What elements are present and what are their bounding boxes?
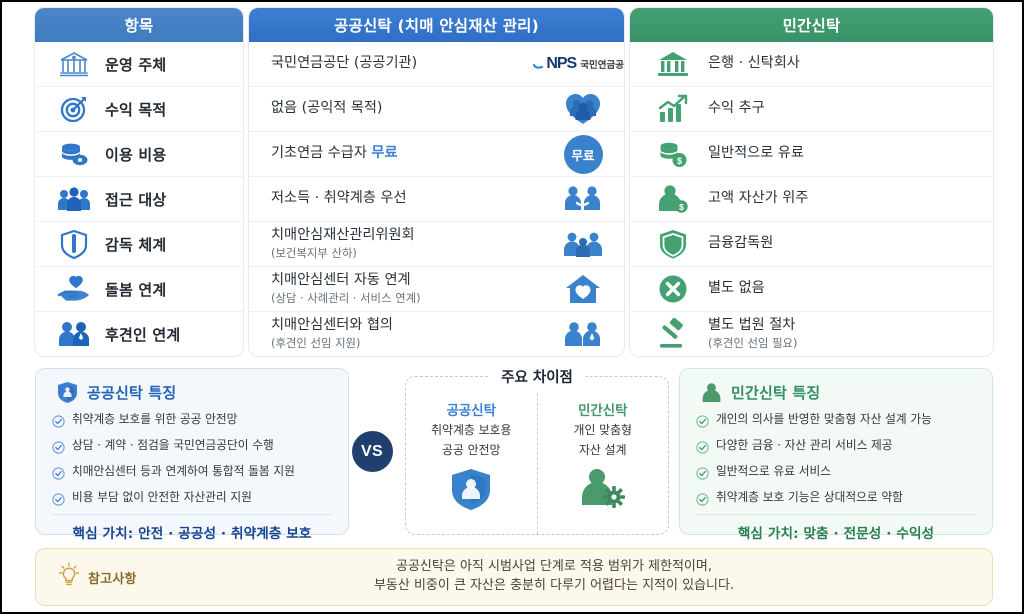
svg-text:$: $ [679, 202, 684, 212]
nps-wordmark: NPS [546, 55, 576, 73]
public-cell-text: 국민연금공단 (공공기관) [271, 55, 546, 73]
two-people-icon [57, 317, 91, 351]
item-label: 감독 체계 [105, 234, 166, 255]
column-header-private: 민간신탁 [630, 8, 993, 42]
note-line-2: 부동산 비중이 큰 자산은 충분히 다루기 어렵다는 지적이 있습니다. [288, 577, 820, 596]
table-row: 별도 법원 절차 (후견인 선임 필요) [630, 312, 993, 356]
summary-cards: 공공신탁 특징 취약계층 보호를 위한 공공 안전망 상담 · 계약 · 점검을… [35, 368, 993, 535]
card-title-private: 민간신탁 특징 [696, 381, 976, 403]
table-row: 기초연금 수급자 무료 무료 [249, 132, 624, 177]
heart-people-icon [552, 89, 614, 129]
table-row: 감독 체계 [35, 222, 243, 267]
nps-name-ko: 국민연금공단 [580, 57, 624, 71]
list-item: 취약계층 보호를 위한 공공 안전망 [52, 412, 332, 432]
mid-private-line1: 개인 맞춤형 [574, 423, 632, 439]
person-icon [700, 381, 722, 403]
public-rows: 국민연금공단 (공공기관) NPS 국민연금공단 없음 (공익적 목적) [249, 42, 624, 356]
private-main-text: 금융감독원 [708, 235, 773, 253]
check-circle-icon [696, 465, 709, 484]
card-title-text: 민간신탁 특징 [731, 382, 820, 403]
mid-private-title: 민간신탁 [578, 399, 627, 419]
free-circle-badge: 무료 [552, 134, 614, 174]
private-rows: 은행 · 신탁회사 수익 추구 $ 일반적으로 유료 [630, 42, 993, 356]
note-label: 참고사항 [88, 568, 137, 587]
public-cell-text: 없음 (공익적 목적) [271, 100, 546, 118]
mid-half-public: 공공신탁 취약계층 보호용 공공 안전망 [406, 393, 537, 534]
table-row: 국민연금공단 (공공기관) NPS 국민연금공단 [249, 42, 624, 87]
check-circle-icon [52, 439, 65, 458]
public-sub-text: (보건복지부 산하) [271, 246, 546, 261]
card-footer-private: 핵심 가치: 맞춤 · 전문성 · 수익성 [696, 514, 976, 542]
private-main-text: 은행 · 신탁회사 [708, 55, 800, 73]
public-cell-text: 치매안심센터와 협의 (후견인 선임 지원) [271, 317, 546, 351]
card-private-features: 민간신탁 특징 개인의 의사를 반영한 맞춤형 자산 설계 가능 다양한 금융 … [679, 368, 993, 535]
private-main-text: 별도 법원 절차 [708, 317, 798, 335]
table-row: 치매안심재산관리위원회 (보건복지부 산하) [249, 222, 624, 267]
note-label-group: 참고사항 [58, 562, 288, 592]
private-cell-text: 은행 · 신탁회사 [708, 55, 800, 73]
svg-text:$: $ [677, 156, 682, 166]
private-cell-text: 일반적으로 유료 [708, 145, 804, 163]
circle-x-icon [656, 272, 690, 306]
bullet-text: 치매안심센터 등과 연계하여 통합적 돌봄 지원 [72, 464, 295, 479]
public-cell-text: 치매안심재산관리위원회 (보건복지부 산하) [271, 227, 546, 261]
list-item: 상담 · 계약 · 점검을 국민연금공단이 수행 [52, 438, 332, 458]
coins-dollar-icon: $ [656, 137, 690, 171]
public-bullet-list: 취약계층 보호를 위한 공공 안전망 상담 · 계약 · 점검을 국민연금공단이… [52, 412, 332, 510]
list-item: 취약계층 보호 기능은 상대적으로 약함 [696, 490, 976, 510]
table-row: 접근 대상 [35, 177, 243, 222]
check-circle-icon [52, 491, 65, 510]
public-main-text: 치매안심센터와 협의 [271, 317, 546, 335]
table-row: 별도 없음 [630, 267, 993, 312]
vs-badge: VS [352, 431, 393, 472]
public-sub-text: (상담 · 사례관리 · 서비스 연계) [271, 291, 546, 306]
shield-icon [57, 227, 91, 261]
check-circle-icon [696, 439, 709, 458]
private-main-text: 별도 없음 [708, 280, 765, 298]
mid-half-private: 민간신탁 개인 맞춤형 자산 설계 [537, 393, 669, 534]
private-main-text: 일반적으로 유료 [708, 145, 804, 163]
free-highlight: 무료 [371, 145, 397, 161]
table-row: 치매안심센터와 협의 (후견인 선임 지원) [249, 312, 624, 356]
bullet-text: 비용 부담 없이 안전한 자산관리 지원 [72, 490, 252, 505]
item-rows: 운영 주체 수익 목적 이용 비용 접근 대상 [35, 42, 243, 356]
column-item: 항목 운영 주체 수익 목적 이용 비용 [35, 8, 243, 356]
bullet-text: 다양한 금융 · 자산 관리 서비스 제공 [716, 438, 893, 453]
free-badge-text: 무료 [564, 135, 603, 174]
two-people-icon [552, 314, 614, 354]
private-cell-text: 수익 추구 [708, 100, 765, 118]
private-cell-text: 별도 법원 절차 (후견인 선임 필요) [708, 317, 798, 351]
card-public-features: 공공신탁 특징 취약계층 보호를 위한 공공 안전망 상담 · 계약 · 점검을… [35, 368, 349, 535]
public-cell-text: 치매안심센터 자동 연계 (상담 · 사례관리 · 서비스 연계) [271, 272, 546, 306]
item-label: 운영 주체 [105, 54, 166, 75]
public-main-text: 기초연금 수급자 무료 [271, 145, 546, 163]
gavel-icon [656, 317, 690, 351]
public-cell-text: 기초연금 수급자 무료 [271, 145, 546, 163]
target-icon [57, 92, 91, 126]
hand-heart-icon [57, 272, 91, 306]
table-row: 수익 목적 [35, 87, 243, 132]
column-header-public: 공공신탁 (치매 안심재산 관리) [249, 8, 624, 42]
shield-person-icon [56, 381, 78, 403]
table-row: 저소득 · 취약계층 우선 [249, 177, 624, 222]
check-circle-icon [52, 413, 65, 432]
table-row: 돌봄 연계 [35, 267, 243, 312]
coins-icon [57, 137, 91, 171]
item-label: 후견인 연계 [105, 324, 180, 345]
people-group-icon [57, 182, 91, 216]
mid-private-line2: 자산 설계 [579, 443, 627, 459]
nps-logo: NPS 국민연금공단 [552, 44, 614, 84]
public-main-text: 없음 (공익적 목적) [271, 100, 546, 118]
table-row: $ 일반적으로 유료 [630, 132, 993, 177]
list-item: 치매안심센터 등과 연계하여 통합적 돌봄 지원 [52, 464, 332, 484]
private-bullet-list: 개인의 의사를 반영한 맞춤형 자산 설계 가능 다양한 금융 · 자산 관리 … [696, 412, 976, 510]
private-sub-text: (후견인 선임 필요) [708, 336, 798, 351]
person-dollar-icon: $ [656, 182, 690, 216]
table-row: 치매안심센터 자동 연계 (상담 · 사례관리 · 서비스 연계) [249, 267, 624, 312]
public-main-text: 치매안심센터 자동 연계 [271, 272, 546, 290]
shield-user-icon [450, 467, 492, 515]
column-header-item: 항목 [35, 8, 243, 42]
note-bar: 참고사항 공공신탁은 아직 시범사업 단계로 적용 범위가 제한적이며, 부동산… [35, 548, 993, 606]
private-main-text: 고액 자산가 위주 [708, 190, 808, 208]
bullet-text: 취약계층 보호 기능은 상대적으로 약함 [716, 490, 903, 505]
note-line-1: 공공신탁은 아직 시범사업 단계로 적용 범위가 제한적이며, [288, 558, 820, 577]
check-circle-icon [52, 465, 65, 484]
public-sub-text: (후견인 선임 지원) [271, 336, 546, 351]
card-title-text: 공공신탁 특징 [87, 382, 176, 403]
public-cell-text: 저소득 · 취약계층 우선 [271, 190, 546, 208]
list-item: 개인의 의사를 반영한 맞춤형 자산 설계 가능 [696, 412, 976, 432]
bank-icon [656, 47, 690, 81]
mid-public-line2: 공공 안전망 [442, 443, 500, 459]
public-main-text: 치매안심재산관리위원회 [271, 227, 546, 245]
check-circle-icon [696, 413, 709, 432]
bullet-text: 일반적으로 유료 서비스 [716, 464, 831, 479]
list-item: 다양한 금융 · 자산 관리 서비스 제공 [696, 438, 976, 458]
user-gear-icon [580, 467, 626, 513]
table-row: 없음 (공익적 목적) [249, 87, 624, 132]
table-row: $ 고액 자산가 위주 [630, 177, 993, 222]
public-main-text: 저소득 · 취약계층 우선 [271, 190, 546, 208]
public-main-text: 국민연금공단 (공공기관) [271, 55, 546, 73]
bullet-text: 상담 · 계약 · 점검을 국민연금공단이 수행 [72, 438, 274, 453]
item-label: 수익 목적 [105, 99, 166, 120]
mid-public-line1: 취약계층 보호용 [431, 423, 511, 439]
item-label: 접근 대상 [105, 189, 166, 210]
item-label: 이용 비용 [105, 144, 166, 165]
shield-check-icon [656, 227, 690, 261]
table-row: 금융감독원 [630, 222, 993, 267]
table-row: 후견인 연계 [35, 312, 243, 356]
bullet-text: 취약계층 보호를 위한 공공 안전망 [72, 412, 237, 427]
lightbulb-icon [58, 562, 80, 592]
check-circle-icon [696, 491, 709, 510]
home-heart-icon [552, 269, 614, 309]
column-private-trust: 민간신탁 은행 · 신탁회사 수익 추구 $ [630, 8, 993, 356]
card-title-public: 공공신탁 특징 [52, 381, 332, 403]
table-row: 수익 추구 [630, 87, 993, 132]
table-row: 운영 주체 [35, 42, 243, 87]
card-footer-public: 핵심 가치: 안전 · 공공성 · 취약계층 보호 [52, 514, 332, 542]
column-public-trust: 공공신탁 (치매 안심재산 관리) 국민연금공단 (공공기관) NPS 국민연금… [249, 8, 624, 356]
table-row: 은행 · 신탁회사 [630, 42, 993, 87]
card-key-differences: 주요 차이점 공공신탁 취약계층 보호용 공공 안전망 민간신탁 개인 맞춤형 … [405, 376, 669, 535]
handshake-people-icon [552, 179, 614, 219]
list-item: 일반적으로 유료 서비스 [696, 464, 976, 484]
private-main-text: 수익 추구 [708, 100, 765, 118]
growth-chart-icon [656, 92, 690, 126]
table-row: 이용 비용 [35, 132, 243, 177]
private-cell-text: 별도 없음 [708, 280, 765, 298]
list-item: 비용 부담 없이 안전한 자산관리 지원 [52, 490, 332, 510]
note-body: 공공신탁은 아직 시범사업 단계로 적용 범위가 제한적이며, 부동산 비중이 … [288, 558, 970, 596]
bank-icon [57, 47, 91, 81]
mid-card-title: 주요 차이점 [489, 366, 585, 387]
bullet-text: 개인의 의사를 반영한 맞춤형 자산 설계 가능 [716, 412, 932, 427]
mid-public-title: 공공신탁 [447, 399, 496, 419]
three-people-icon [552, 224, 614, 264]
comparison-table: 항목 운영 주체 수익 목적 이용 비용 [35, 8, 993, 356]
item-label: 돌봄 연계 [105, 279, 166, 300]
vs-slot: VS [349, 368, 395, 535]
private-cell-text: 금융감독원 [708, 235, 773, 253]
private-cell-text: 고액 자산가 위주 [708, 190, 808, 208]
